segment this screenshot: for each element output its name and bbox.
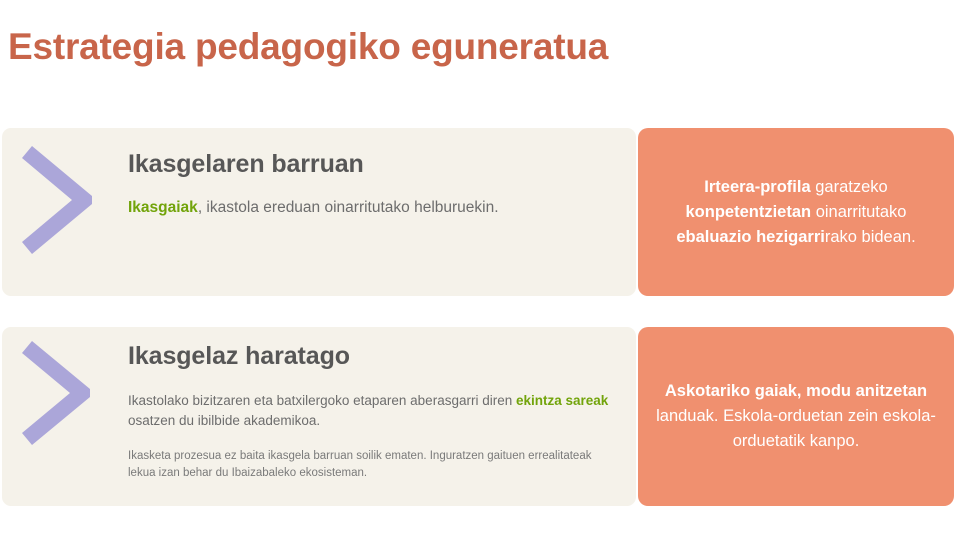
- chevron-right-icon: [22, 341, 94, 445]
- highlight-panel-2-text: Askotariko gaiak, modu anitzetan landuak…: [652, 379, 940, 454]
- page-title: Estrategia pedagogiko eguneratua: [8, 26, 608, 68]
- panel-2-normal-1: landuak. Eskola-orduetan zein eskola- or…: [656, 407, 936, 450]
- content-row-2: Ikasgelaz haratago Ikastolako bizitzaren…: [2, 327, 954, 506]
- highlight-panel-2: Askotariko gaiak, modu anitzetan landuak…: [638, 327, 954, 506]
- panel-1-bold-2: konpetentzietan: [686, 203, 816, 221]
- panel-1-normal-3: rako bidean.: [825, 228, 916, 246]
- card-paragraph-1: Ikasgaiak, ikastola ereduan oinarritutak…: [128, 179, 618, 219]
- panel-1-normal-1: garatzeko: [815, 178, 887, 196]
- panel-1-normal-2: oinarritutako: [816, 203, 907, 221]
- card-paragraph-2a-text-1: Ikastolako bizitzaren eta batxilergoko e…: [128, 393, 516, 408]
- card-paragraph-1-text: , ikastola ereduan oinarritutako helburu…: [198, 199, 499, 216]
- highlight-term-ikasgaiak: Ikasgaiak: [128, 199, 198, 216]
- panel-1-bold-3: ebaluazio hezigarri: [676, 228, 825, 246]
- highlight-panel-1: Irteera-profila garatzeko konpetentzieta…: [638, 128, 954, 296]
- info-card-1: Ikasgelaren barruan Ikasgaiak, ikastola …: [2, 128, 636, 296]
- card-paragraph-2a: Ikastolako bizitzaren eta batxilergoko e…: [128, 371, 618, 431]
- info-card-2: Ikasgelaz haratago Ikastolako bizitzaren…: [2, 327, 636, 506]
- highlight-term-ekintza-sareak: ekintza sareak: [516, 393, 608, 408]
- content-row-1: Ikasgelaren barruan Ikasgaiak, ikastola …: [2, 128, 954, 296]
- card-paragraph-2b: Ikasketa prozesua ez baita ikasgela barr…: [128, 431, 618, 482]
- chevron-right-icon: [22, 146, 96, 254]
- card-heading-2: Ikasgelaz haratago: [128, 327, 618, 371]
- panel-1-bold-1: Irteera-profila: [704, 178, 815, 196]
- info-card-1-body: Ikasgelaren barruan Ikasgaiak, ikastola …: [128, 128, 618, 296]
- card-paragraph-2a-text-2: osatzen du ibilbide akademikoa.: [128, 413, 320, 428]
- highlight-panel-1-text: Irteera-profila garatzeko konpetentzieta…: [652, 175, 940, 250]
- card-heading-1: Ikasgelaren barruan: [128, 128, 618, 179]
- panel-2-bold-1: Askotariko gaiak, modu anitzetan: [665, 382, 927, 400]
- info-card-2-body: Ikasgelaz haratago Ikastolako bizitzaren…: [128, 327, 618, 506]
